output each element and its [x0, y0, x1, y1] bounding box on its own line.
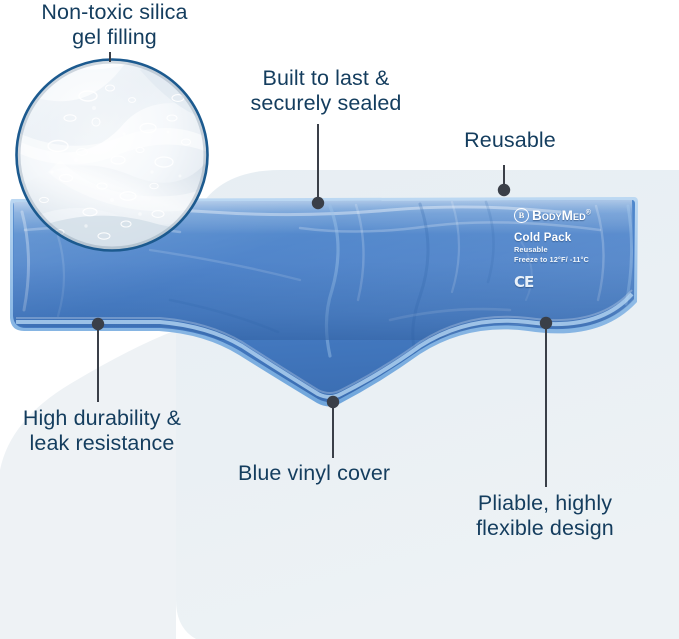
- silica-gel-inset: [16, 47, 208, 251]
- callout-label-durability: High durability & leak resistance: [0, 406, 206, 456]
- callout-label-silica: Non-toxic silica gel filling: [22, 0, 207, 50]
- brand-name: BodyMed®: [532, 208, 591, 223]
- callout-label-built-to-last: Built to last & securely sealed: [228, 66, 424, 116]
- callout-label-blue-vinyl-cover: Blue vinyl cover: [238, 461, 446, 486]
- dot-built: [312, 197, 324, 209]
- infographic-canvas: B BodyMed® Cold Pack Reusable Freeze to …: [0, 0, 679, 639]
- background-panel-lowerleft: [0, 330, 176, 639]
- callout-label-pliable: Pliable, highly flexible design: [455, 491, 635, 541]
- brand-lockup: B BodyMed®: [514, 208, 624, 223]
- label-reusable-line: Reusable: [514, 245, 624, 254]
- callout-label-reusable: Reusable: [440, 128, 580, 153]
- dot-reusable: [498, 184, 510, 196]
- dot-durability: [92, 318, 104, 330]
- dot-vinyl: [327, 396, 339, 408]
- label-freeze-instruction: Freeze to 12°F/ -11°C: [514, 255, 624, 264]
- product-label: B BodyMed® Cold Pack Reusable Freeze to …: [514, 208, 624, 291]
- bodymed-b-logo-icon: B: [514, 208, 529, 223]
- brand-name-text: BodyMed: [532, 208, 586, 223]
- dot-pliable: [540, 317, 552, 329]
- label-product-title: Cold Pack: [514, 232, 624, 244]
- registered-trademark-icon: ®: [586, 210, 591, 217]
- ce-mark-icon: CE: [514, 273, 624, 291]
